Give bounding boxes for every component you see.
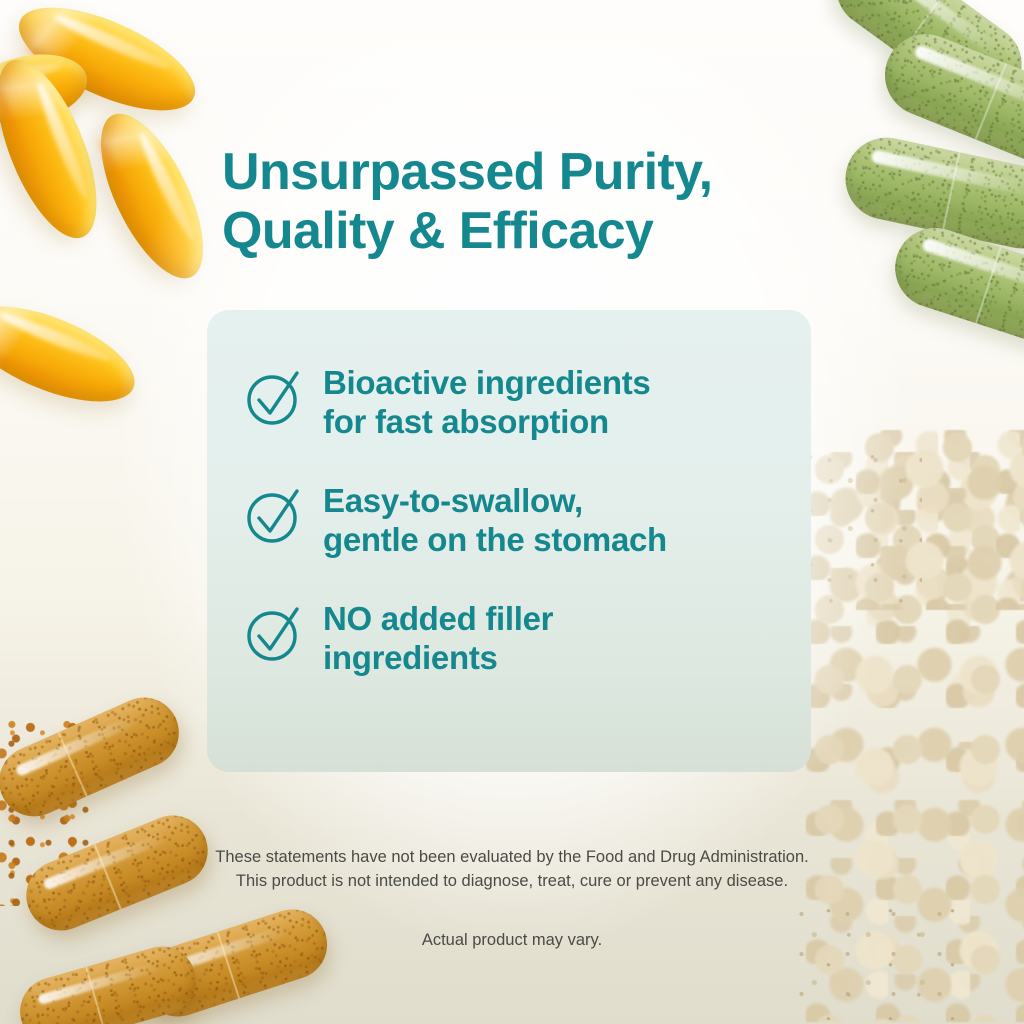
powder-dust-specks [790,900,970,1020]
turmeric-powder-spill [0,716,100,906]
product-benefits-graphic: Unsurpassed Purity, Quality & Efficacy B… [0,0,1024,1024]
green-herbal-capsule-icon [885,218,1024,359]
product-variation-note: Actual product may vary. [212,928,812,952]
green-herbal-capsule-icon [838,130,1024,256]
list-item-label: Easy-to-swallow, gentle on the stomach [323,480,667,560]
turmeric-capsule-icon [0,686,190,827]
protein-powder-pile [806,452,1024,1022]
turmeric-capsule-icon [16,805,218,941]
feature-1-line-2: for fast absorption [323,403,650,442]
list-item: NO added filler ingredients [243,598,777,678]
list-item: Easy-to-swallow, gentle on the stomach [243,480,777,560]
green-herbal-capsule-icon [821,0,1024,120]
headline-line-2: Quality & Efficacy [222,202,822,261]
benefits-card: Bioactive ingredients for fast absorptio… [207,310,811,772]
green-herbal-capsule-icon [873,22,1024,180]
feature-3-line-1: NO added filler [323,600,553,637]
page-title: Unsurpassed Purity, Quality & Efficacy [222,143,822,262]
fish-oil-softgel-icon [0,44,94,134]
check-circle-icon [243,366,305,428]
benefits-list: Bioactive ingredients for fast absorptio… [207,310,811,772]
fda-disclaimer-text: These statements have not been evaluated… [215,848,808,890]
list-item-label: NO added filler ingredients [323,598,553,678]
check-circle-icon [243,484,305,546]
list-item: Bioactive ingredients for fast absorptio… [243,362,777,442]
feature-1-line-1: Bioactive ingredients [323,364,650,401]
headline-line-1: Unsurpassed Purity, [222,143,712,201]
protein-powder-pile [856,430,1024,610]
feature-2-line-1: Easy-to-swallow, [323,482,583,519]
fish-oil-softgel-icon [0,47,117,251]
disclaimer-block: These statements have not been evaluated… [212,845,812,952]
list-item-label: Bioactive ingredients for fast absorptio… [323,362,650,442]
fish-oil-softgel-icon [5,0,209,131]
turmeric-capsule-icon [12,939,204,1024]
fish-oil-softgel-icon [80,99,224,292]
feature-3-line-2: ingredients [323,639,553,678]
fish-oil-softgel-icon [0,287,147,421]
feature-2-line-2: gentle on the stomach [323,521,667,560]
check-circle-icon [243,602,305,664]
